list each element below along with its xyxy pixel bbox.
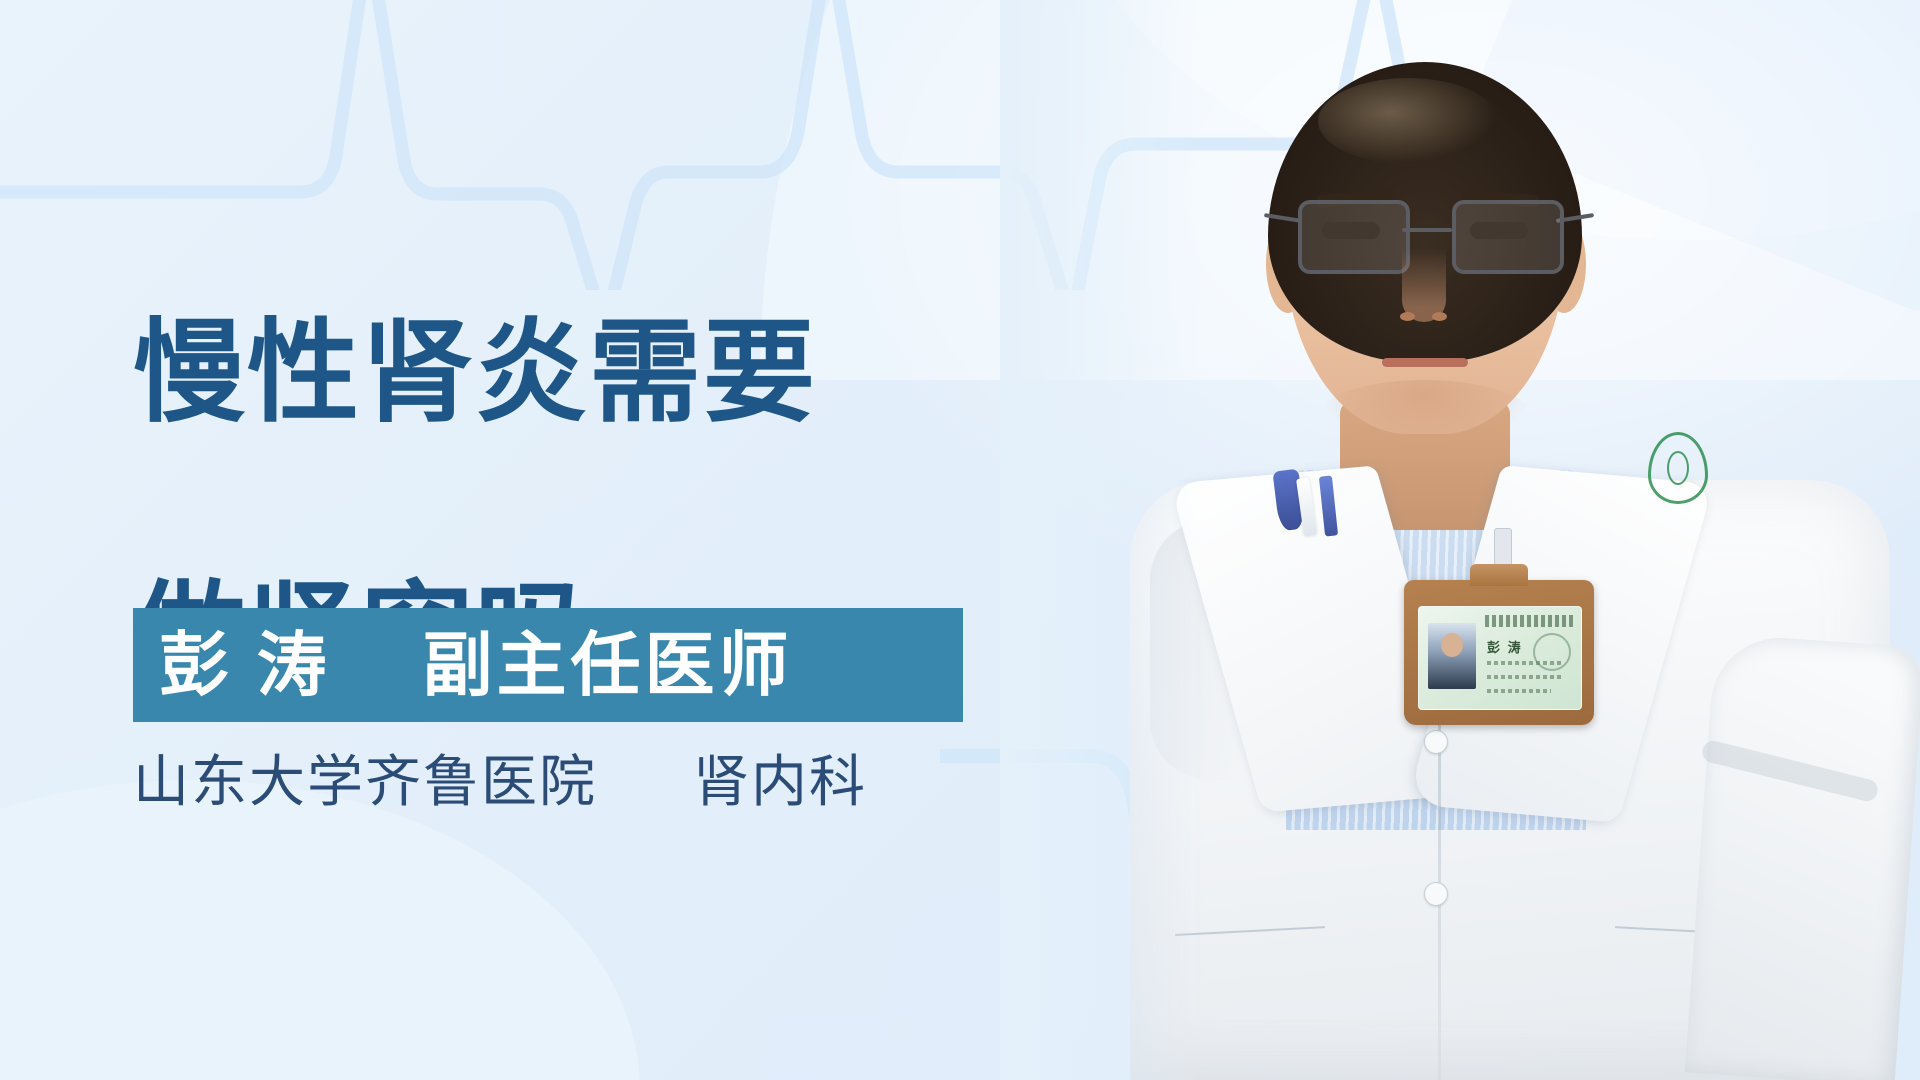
chin-shadow [1320, 380, 1530, 450]
nostril-right [1432, 312, 1447, 321]
glasses-lens-right-icon [1452, 200, 1564, 274]
title-line-1: 慢性肾炎需要 [133, 307, 1013, 438]
id-badge-portrait-photo [1428, 623, 1476, 689]
coat-button-upper [1424, 730, 1448, 754]
glasses-lens-left-icon [1298, 200, 1410, 274]
id-badge-card: 彭 涛 [1418, 606, 1582, 710]
id-badge-detail-line-2 [1487, 675, 1563, 679]
nostril-left [1400, 312, 1415, 321]
presenter-department: 肾内科 [693, 754, 867, 810]
video-title: 慢性肾炎需要 做肾穿吗 [133, 176, 1013, 831]
presenter-hospital: 山东大学齐鲁医院 [133, 754, 597, 810]
coat-pocket-left [1175, 926, 1331, 1046]
presenter-affiliation: 山东大学齐鲁医院 肾内科 [133, 754, 867, 810]
id-badge-name: 彭 涛 [1487, 637, 1523, 656]
nose [1402, 248, 1446, 322]
hair-highlight [1318, 78, 1498, 164]
id-badge-seal-icon [1533, 633, 1571, 671]
thumbnail-canvas: 彭 涛 慢性肾炎需要 做肾穿吗 彭 涛 副主任医师 山东大学齐鲁医院 肾内科 [0, 0, 1920, 1080]
id-badge-hospital-header [1485, 615, 1575, 627]
presenter-title: 副主任医师 [422, 630, 792, 700]
coat-emblem-icon [1648, 432, 1708, 504]
mouth [1382, 358, 1468, 367]
presenter-name-badge: 彭 涛 副主任医师 [133, 608, 963, 722]
doctor-portrait-photo: 彭 涛 [1000, 0, 1920, 1080]
id-badge-detail-line-3 [1487, 689, 1551, 693]
glasses-bridge [1402, 228, 1452, 232]
coat-button-lower [1424, 882, 1448, 906]
coat-sleeve-right [1685, 633, 1920, 1080]
id-badge-holder: 彭 涛 [1404, 580, 1594, 725]
presenter-name: 彭 涛 [159, 630, 330, 700]
